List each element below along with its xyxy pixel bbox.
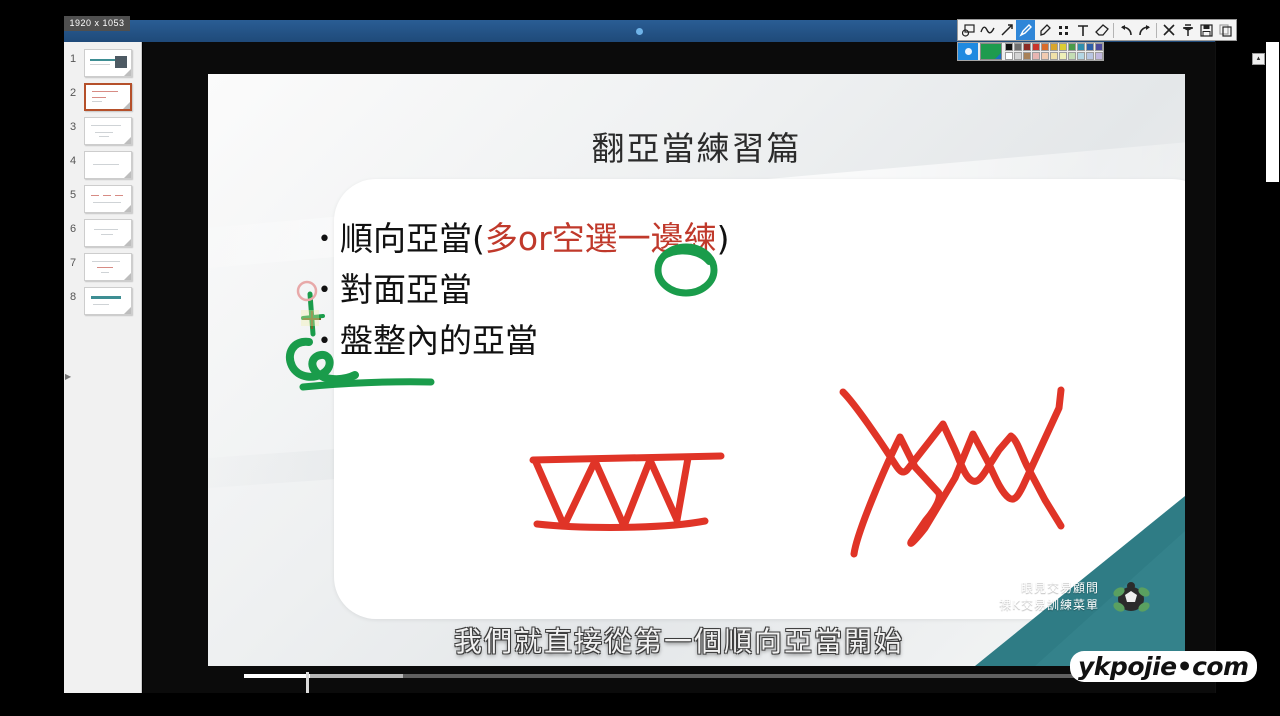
scroll-up-button[interactable]: ▲ xyxy=(1252,53,1265,65)
thumbnail-item-2[interactable]: 2 xyxy=(66,82,140,112)
video-subtitle: 我們就直接從第一個順向亞當開始 xyxy=(143,620,1215,660)
palette-swatch[interactable] xyxy=(1014,52,1022,60)
current-color-swatch[interactable] xyxy=(980,43,1002,60)
toolbar-separator xyxy=(1156,23,1157,38)
highlighter-icon[interactable] xyxy=(1035,20,1054,40)
copy-icon[interactable] xyxy=(1216,20,1235,40)
right-side-panel-strip xyxy=(1266,42,1279,182)
resolution-tooltip: 1920 x 1053 xyxy=(64,16,130,31)
palette-swatch[interactable] xyxy=(1023,43,1031,51)
thumbnail-item-1[interactable]: 1 xyxy=(66,48,140,78)
palette-swatch[interactable] xyxy=(1077,43,1085,51)
bullet-dot-icon: • xyxy=(318,266,340,316)
thumbnail-number: 5 xyxy=(70,189,76,201)
progress-bar-buffer xyxy=(310,674,403,678)
palette-swatch[interactable] xyxy=(1023,52,1031,60)
thumbnail-item-5[interactable]: 5 xyxy=(66,184,140,214)
bullet-item-1: •順向亞當(多or空選一邊練) xyxy=(318,214,730,265)
pane-collapse-arrow-icon[interactable]: ▶ xyxy=(65,372,71,381)
thumbnail-number: 7 xyxy=(70,257,76,269)
thumbnail-item-3[interactable]: 3 xyxy=(66,116,140,146)
turtle-logo-icon xyxy=(1111,578,1151,618)
palette-swatch[interactable] xyxy=(1059,43,1067,51)
thumbnail-preview xyxy=(84,117,132,145)
palette-swatch[interactable] xyxy=(1041,43,1049,51)
thumbnail-preview xyxy=(84,49,132,77)
palette-swatch[interactable] xyxy=(1005,52,1013,60)
thumbnail-preview xyxy=(84,287,132,315)
presentation-window: ▶ 1 2 3 xyxy=(64,20,1215,693)
select-shape-icon[interactable] xyxy=(959,20,978,40)
slide-display-area: 翻亞當練習篇 眼見交易顧問 裸K交易訓練菜單 xyxy=(143,42,1215,693)
palette-swatch[interactable] xyxy=(1059,52,1067,60)
palette-swatch[interactable] xyxy=(1086,43,1094,51)
bullet-item-2: •對面亞當 xyxy=(318,265,730,316)
thumbnail-number: 8 xyxy=(70,291,76,303)
palette-swatch[interactable] xyxy=(1077,52,1085,60)
palette-swatch[interactable] xyxy=(1032,43,1040,51)
progress-bar-played xyxy=(244,674,310,678)
current-slide: 翻亞當練習篇 眼見交易顧問 裸K交易訓練菜單 xyxy=(208,74,1185,666)
thumbnail-item-6[interactable]: 6 xyxy=(66,218,140,248)
palette-swatch[interactable] xyxy=(1050,52,1058,60)
palette-swatch[interactable] xyxy=(1005,43,1013,51)
pen-icon[interactable] xyxy=(1016,20,1035,40)
color-picker-button[interactable] xyxy=(958,43,978,60)
thumbnail-preview xyxy=(84,151,132,179)
brand-line-2: 裸K交易訓練菜單 xyxy=(999,597,1099,614)
palette-swatch[interactable] xyxy=(1050,43,1058,51)
thumbnail-preview xyxy=(84,219,132,247)
progress-bar-track[interactable] xyxy=(244,674,1215,678)
site-watermark: ykpojie•com xyxy=(1070,651,1257,682)
arrow-icon[interactable] xyxy=(997,20,1016,40)
palette-swatch[interactable] xyxy=(1095,43,1103,51)
toolbar-separator xyxy=(1113,23,1114,38)
annotation-color-palette xyxy=(957,42,1104,61)
spotlight-grid-icon[interactable] xyxy=(1054,20,1073,40)
progress-bar-handle[interactable] xyxy=(306,672,309,693)
text-tool-icon[interactable] xyxy=(1073,20,1092,40)
palette-swatch[interactable] xyxy=(1086,52,1094,60)
thumbnail-preview-selected xyxy=(84,83,132,111)
thumbnail-preview xyxy=(84,185,132,213)
annotation-toolbar xyxy=(957,19,1237,41)
clear-icon[interactable] xyxy=(1159,20,1178,40)
window-right-edge xyxy=(1215,20,1216,693)
thumbnail-number: 1 xyxy=(70,53,76,65)
thumbnail-item-7[interactable]: 7 xyxy=(66,252,140,282)
bullet-dot-icon: • xyxy=(318,215,340,265)
bullet-text-black: 盤整內的亞當 xyxy=(340,321,538,360)
palette-swatch-grid[interactable] xyxy=(1005,43,1103,60)
thumbnail-number: 6 xyxy=(70,223,76,235)
palette-swatch[interactable] xyxy=(1068,43,1076,51)
bullet-dot-icon: • xyxy=(318,317,340,367)
color-picker-dot-icon xyxy=(965,48,972,55)
thumbnail-number: 2 xyxy=(70,87,76,99)
thumbnail-item-4[interactable]: 4 xyxy=(66,150,140,180)
palette-swatch[interactable] xyxy=(1041,52,1049,60)
palette-swatch[interactable] xyxy=(1032,52,1040,60)
screen-root: ▶ 1 2 3 xyxy=(0,0,1280,716)
freehand-line-icon[interactable] xyxy=(978,20,997,40)
save-icon[interactable] xyxy=(1197,20,1216,40)
undo-icon[interactable] xyxy=(1116,20,1135,40)
brand-line-1: 眼見交易顧問 xyxy=(999,580,1099,597)
titlebar-indicator-dot xyxy=(636,28,643,35)
slide-branding: 眼見交易顧問 裸K交易訓練菜單 xyxy=(999,580,1099,614)
thumbnail-number: 3 xyxy=(70,121,76,133)
thumbnail-number: 4 xyxy=(70,155,76,167)
palette-swatch[interactable] xyxy=(1095,52,1103,60)
bullet-text-black: 對面亞當 xyxy=(340,270,472,309)
bullet-item-3: •盤整內的亞當 xyxy=(318,316,730,367)
pin-icon[interactable] xyxy=(1178,20,1197,40)
palette-swatch[interactable] xyxy=(1068,52,1076,60)
palette-swatch[interactable] xyxy=(1014,43,1022,51)
redo-icon[interactable] xyxy=(1135,20,1154,40)
swatch-fold-indicator xyxy=(995,53,1001,59)
bullet-text-red: 多or空選一邊練 xyxy=(485,219,717,258)
thumbnail-item-8[interactable]: 8 xyxy=(66,286,140,316)
eraser-icon[interactable] xyxy=(1092,20,1111,40)
thumbnail-preview xyxy=(84,253,132,281)
slide-bullet-list: •順向亞當(多or空選一邊練) •對面亞當 •盤整內的亞當 xyxy=(318,214,730,367)
slide-title: 翻亞當練習篇 xyxy=(208,122,1185,170)
slide-thumbnail-pane[interactable]: ▶ 1 2 3 xyxy=(64,42,142,693)
bullet-text-black: 順向亞當( xyxy=(340,219,485,258)
bullet-text-black-close: ) xyxy=(717,219,730,258)
